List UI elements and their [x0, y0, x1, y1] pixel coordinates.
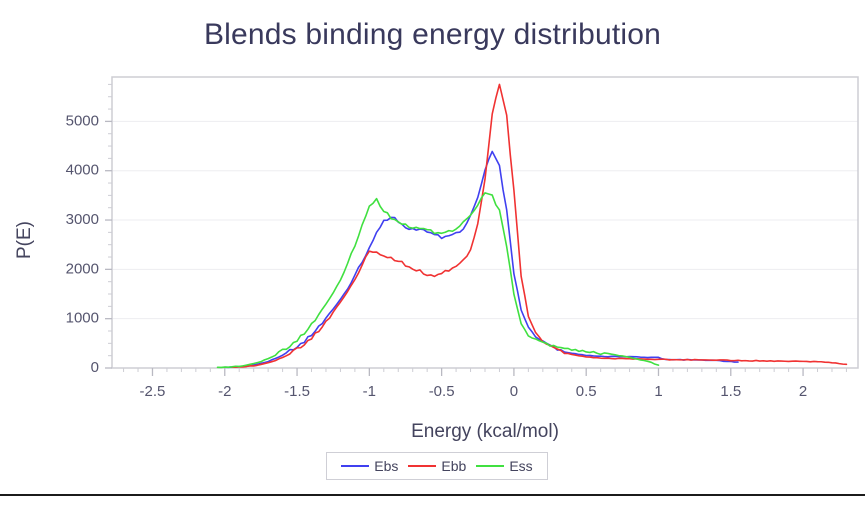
legend-label-ebb: Ebb	[441, 458, 466, 474]
svg-text:1.5: 1.5	[720, 383, 741, 400]
svg-text:2000: 2000	[66, 260, 99, 277]
svg-text:5000: 5000	[66, 112, 99, 129]
svg-text:4000: 4000	[66, 162, 99, 179]
svg-text:2: 2	[799, 383, 807, 400]
legend-swatch-ebb	[408, 465, 436, 467]
chart-legend: Ebs Ebb Ess	[326, 452, 548, 480]
svg-text:0: 0	[91, 359, 99, 376]
gridlines	[112, 121, 858, 318]
legend-swatch-ess	[476, 465, 504, 467]
legend-label-ebs: Ebs	[374, 458, 398, 474]
chart-figure: Blends binding energy distribution 01000…	[0, 0, 865, 495]
page-bottom-rule	[0, 494, 865, 496]
svg-text:-2.5: -2.5	[140, 383, 166, 400]
data-series	[218, 84, 847, 367]
legend-label-ess: Ess	[509, 458, 532, 474]
svg-text:-1.5: -1.5	[284, 383, 310, 400]
y-tick-labels: 010002000300040005000	[66, 112, 99, 376]
x-axis-label: Energy (kcal/mol)	[411, 421, 559, 442]
legend-item-ebb[interactable]: Ebb	[408, 458, 466, 474]
legend-item-ebs[interactable]: Ebs	[341, 458, 398, 474]
svg-text:-1: -1	[363, 383, 376, 400]
y-axis-label: P(E)	[14, 221, 35, 259]
svg-text:3000: 3000	[66, 211, 99, 228]
svg-text:1: 1	[654, 383, 662, 400]
plot-area: 010002000300040005000 -2.5-2-1.5-1-0.500…	[0, 0, 865, 495]
svg-text:-2: -2	[218, 383, 231, 400]
x-tick-labels: -2.5-2-1.5-1-0.500.511.52	[140, 383, 808, 400]
legend-item-ess[interactable]: Ess	[476, 458, 532, 474]
svg-text:0.5: 0.5	[576, 383, 597, 400]
svg-text:0: 0	[510, 383, 518, 400]
svg-text:-0.5: -0.5	[429, 383, 455, 400]
svg-text:1000: 1000	[66, 310, 99, 327]
legend-swatch-ebs	[341, 465, 369, 467]
plot-frame	[112, 77, 858, 368]
